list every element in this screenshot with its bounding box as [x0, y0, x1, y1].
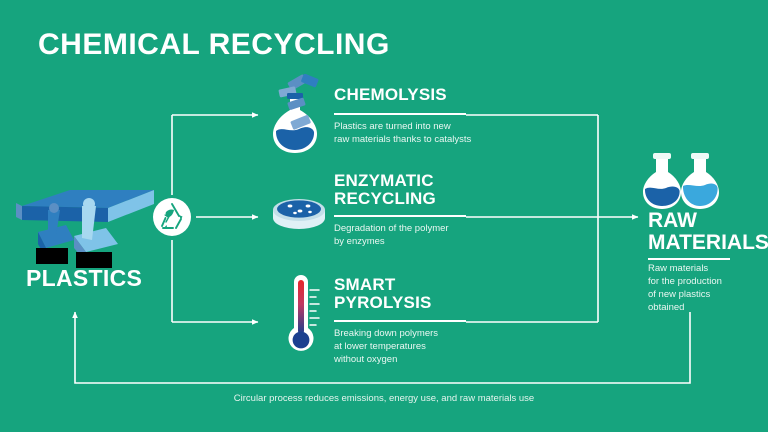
- recycling-leaf-icon: [152, 197, 192, 237]
- step-title-line: SMART: [334, 276, 504, 294]
- step-rule-enzymatic-recycling: [334, 215, 466, 217]
- thermometer-icon: [283, 270, 327, 358]
- output-title-line: MATERIALS: [648, 232, 768, 254]
- two-flasks-icon: [642, 152, 726, 212]
- step-body-enzymatic-recycling: Degradation of the polymer by enzymes: [334, 223, 499, 249]
- step-body-smart-pyrolysis: Breaking down polymers at lower temperat…: [334, 328, 499, 366]
- step-body-chemolysis: Plastics are turned into new raw materia…: [334, 121, 494, 147]
- petri-dish-icon: [270, 192, 328, 234]
- output-body-line: for the production: [648, 276, 760, 289]
- step-body-line: raw materials thanks to catalysts: [334, 134, 494, 147]
- output-title-line: RAW: [648, 210, 768, 232]
- output-body: Raw materials for the production of new …: [648, 263, 760, 315]
- step-title-enzymatic-recycling: ENZYMATIC RECYCLING: [334, 172, 504, 207]
- step-title-line: CHEMOLYSIS: [334, 86, 494, 104]
- output-body-line: of new plastics: [648, 289, 760, 302]
- footer-caption: Circular process reduces emissions, ener…: [0, 393, 768, 404]
- step-title-line: PYROLYSIS: [334, 294, 504, 312]
- input-label: PLASTICS: [26, 265, 142, 292]
- plastic-furniture-icon: [8, 170, 158, 270]
- output-rule: [648, 258, 730, 260]
- step-title-line: ENZYMATIC: [334, 172, 504, 190]
- step-rule-smart-pyrolysis: [334, 320, 466, 322]
- step-body-line: Degradation of the polymer: [334, 223, 499, 236]
- step-rule-chemolysis: [334, 113, 466, 115]
- step-body-line: by enzymes: [334, 236, 499, 249]
- step-body-line: Breaking down polymers: [334, 328, 499, 341]
- output-title: RAW MATERIALS: [648, 210, 768, 254]
- round-flask-icon: [266, 74, 332, 156]
- step-body-line: at lower temperatures: [334, 341, 499, 354]
- output-body-line: Raw materials: [648, 263, 760, 276]
- step-title-chemolysis: CHEMOLYSIS: [334, 86, 494, 104]
- step-title-line: RECYCLING: [334, 190, 504, 208]
- infographic-canvas: CHEMICAL RECYCLING: [0, 0, 768, 432]
- output-body-line: obtained: [648, 302, 760, 315]
- step-body-line: Plastics are turned into new: [334, 121, 494, 134]
- step-body-line: without oxygen: [334, 354, 499, 367]
- step-title-smart-pyrolysis: SMART PYROLYSIS: [334, 276, 504, 311]
